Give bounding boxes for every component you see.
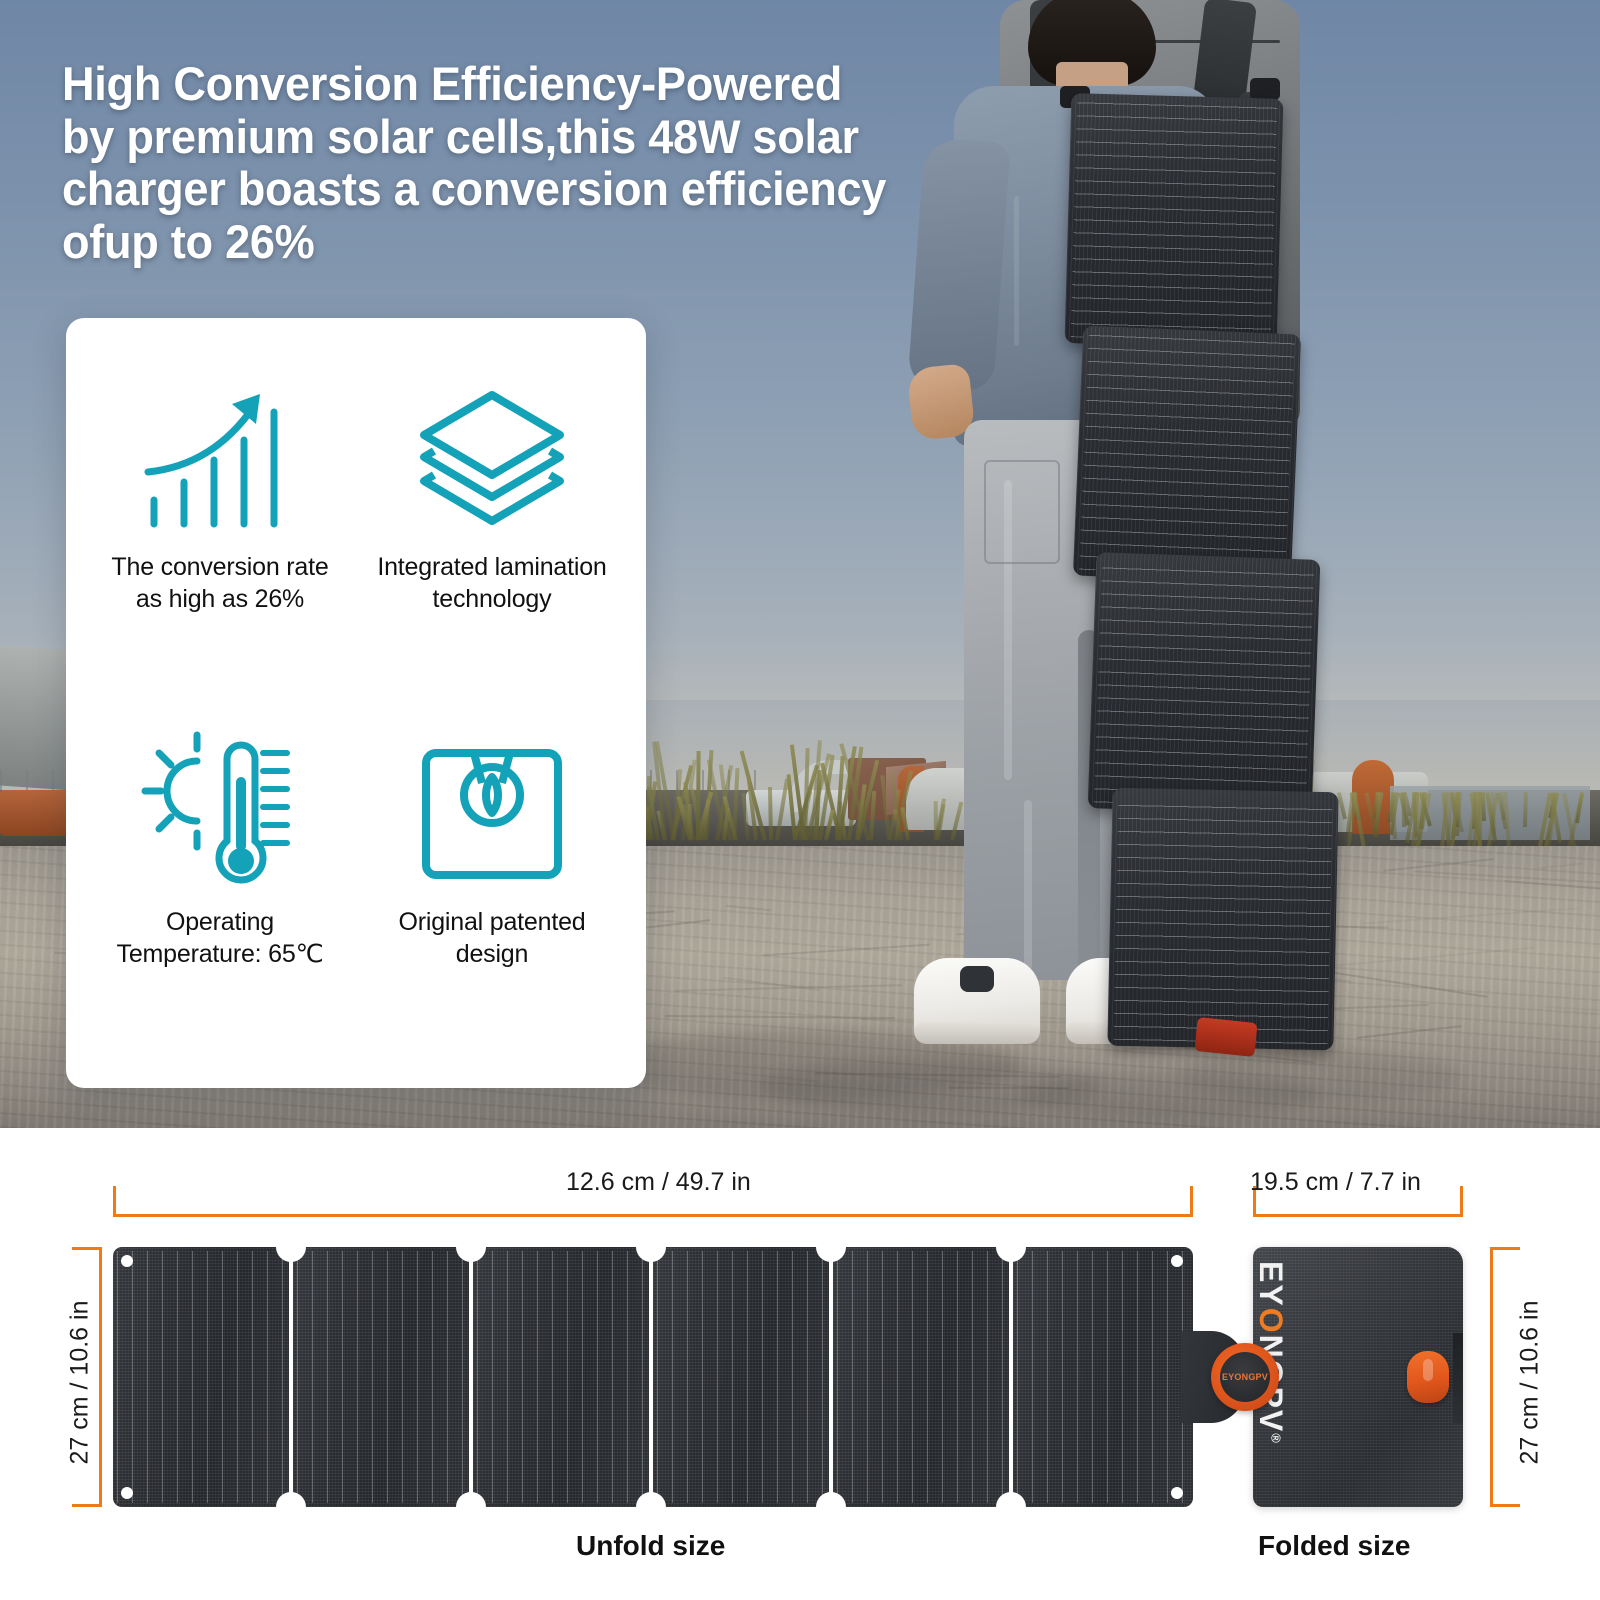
corner-grommet [1171, 1487, 1183, 1499]
feature-conversion-rate: The conversion rate as high as 26% [84, 352, 356, 707]
feature-label-line: as high as 26% [111, 584, 328, 616]
brand-prefix: EY [1253, 1261, 1289, 1308]
headline-line: High Conversion Efficiency-Powered [62, 58, 1032, 111]
hanging-solar-panel-segment [1107, 788, 1338, 1051]
corner-grommet [121, 1487, 133, 1499]
dimension-diagram-section: 12.6 cm / 49.7 in 27 cm / 10.6 in [0, 1128, 1600, 1600]
unfold-height-label: 27 cm / 10.6 in [66, 1288, 95, 1478]
badge-brand: EYONGPV [1222, 1373, 1268, 1382]
shoe-tongue-tab [960, 966, 994, 992]
dim-line-vertical [99, 1247, 102, 1507]
panel-segment [113, 1247, 289, 1507]
feature-label-line: Temperature: 65℃ [117, 939, 324, 971]
dim-tick [72, 1247, 102, 1250]
hanging-solar-panel-segment [1088, 552, 1321, 816]
feature-label-line: Original patented [398, 907, 585, 939]
hanging-solar-panel-segment [1065, 93, 1284, 349]
feature-label-line: technology [377, 584, 606, 616]
dim-tick [1490, 1504, 1520, 1507]
feature-label: Integrated lamination technology [377, 552, 606, 615]
unfolded-solar-panel: EYONGPV [113, 1247, 1193, 1507]
pants-pocket [984, 460, 1060, 564]
grass-blade [696, 751, 701, 840]
panel-hang-clip [1250, 78, 1280, 100]
headline-line: charger boasts a conversion efficiency [62, 163, 1032, 216]
person-shoe-left [914, 958, 1040, 1044]
feature-label-line: Operating [117, 907, 324, 939]
sun-thermometer-icon [135, 725, 305, 901]
feature-label-line: The conversion rate [111, 552, 328, 584]
unfold-size-caption: Unfold size [576, 1530, 725, 1562]
hero-headline: High Conversion Efficiency-Powered by pr… [62, 58, 1032, 269]
unfold-width-label: 12.6 cm / 49.7 in [566, 1168, 751, 1197]
growth-chart-arrow-icon [140, 370, 300, 546]
hanging-solar-panel-segment [1073, 326, 1301, 585]
feature-lamination: Integrated lamination technology [356, 352, 628, 707]
panel-brand-badge: EYONGPV [1211, 1343, 1279, 1411]
dim-tick [1490, 1247, 1520, 1250]
folded-height-label: 27 cm / 10.6 in [1516, 1288, 1545, 1478]
dim-line-horizontal [1253, 1214, 1463, 1217]
registered-mark: ® [1269, 1433, 1284, 1445]
patent-certificate-icon [412, 725, 572, 901]
grass-blade [768, 787, 773, 840]
panel-segment [833, 1247, 1009, 1507]
corner-grommet [121, 1255, 133, 1267]
folded-size-caption: Folded size [1258, 1530, 1410, 1562]
dim-line-vertical [1490, 1247, 1493, 1507]
panel-segment [653, 1247, 829, 1507]
feature-card: The conversion rate as high as 26% Integ… [66, 318, 646, 1088]
folded-width-label: 19.5 cm / 7.7 in [1250, 1168, 1421, 1197]
corner-grommet [1171, 1255, 1183, 1267]
feature-label-line: design [398, 939, 585, 971]
stacked-layers-icon [412, 370, 572, 546]
feature-label: Original patented design [398, 907, 585, 970]
dim-tick [1190, 1186, 1193, 1216]
headline-line: ofup to 26% [62, 216, 1032, 269]
hero-photo-section: High Conversion Efficiency-Powered by pr… [0, 0, 1600, 1128]
dim-line-horizontal [113, 1214, 1193, 1217]
panel-orange-knob [1407, 1351, 1449, 1403]
feature-patented-design: Original patented design [356, 707, 628, 1062]
folded-solar-panel: EYONGPV® [1253, 1247, 1463, 1507]
feature-label: The conversion rate as high as 26% [111, 552, 328, 615]
dim-tick [72, 1504, 102, 1507]
feature-label-line: Integrated lamination [377, 552, 606, 584]
panel-cable-tip [1194, 1017, 1257, 1057]
panel-segment [293, 1247, 469, 1507]
feature-operating-temperature: Operating Temperature: 65℃ [84, 707, 356, 1062]
dim-tick [1460, 1186, 1463, 1216]
dim-tick [113, 1186, 116, 1216]
shoe-sole [914, 1022, 1040, 1044]
panel-segment [1013, 1247, 1193, 1507]
brand-letter-o: O [1253, 1308, 1289, 1335]
feature-label: Operating Temperature: 65℃ [117, 907, 324, 970]
panel-side-edge [1453, 1333, 1463, 1423]
panel-segment [473, 1247, 649, 1507]
badge-inner: EYONGPV [1220, 1352, 1270, 1402]
headline-line: by premium solar cells,this 48W solar [62, 111, 1032, 164]
